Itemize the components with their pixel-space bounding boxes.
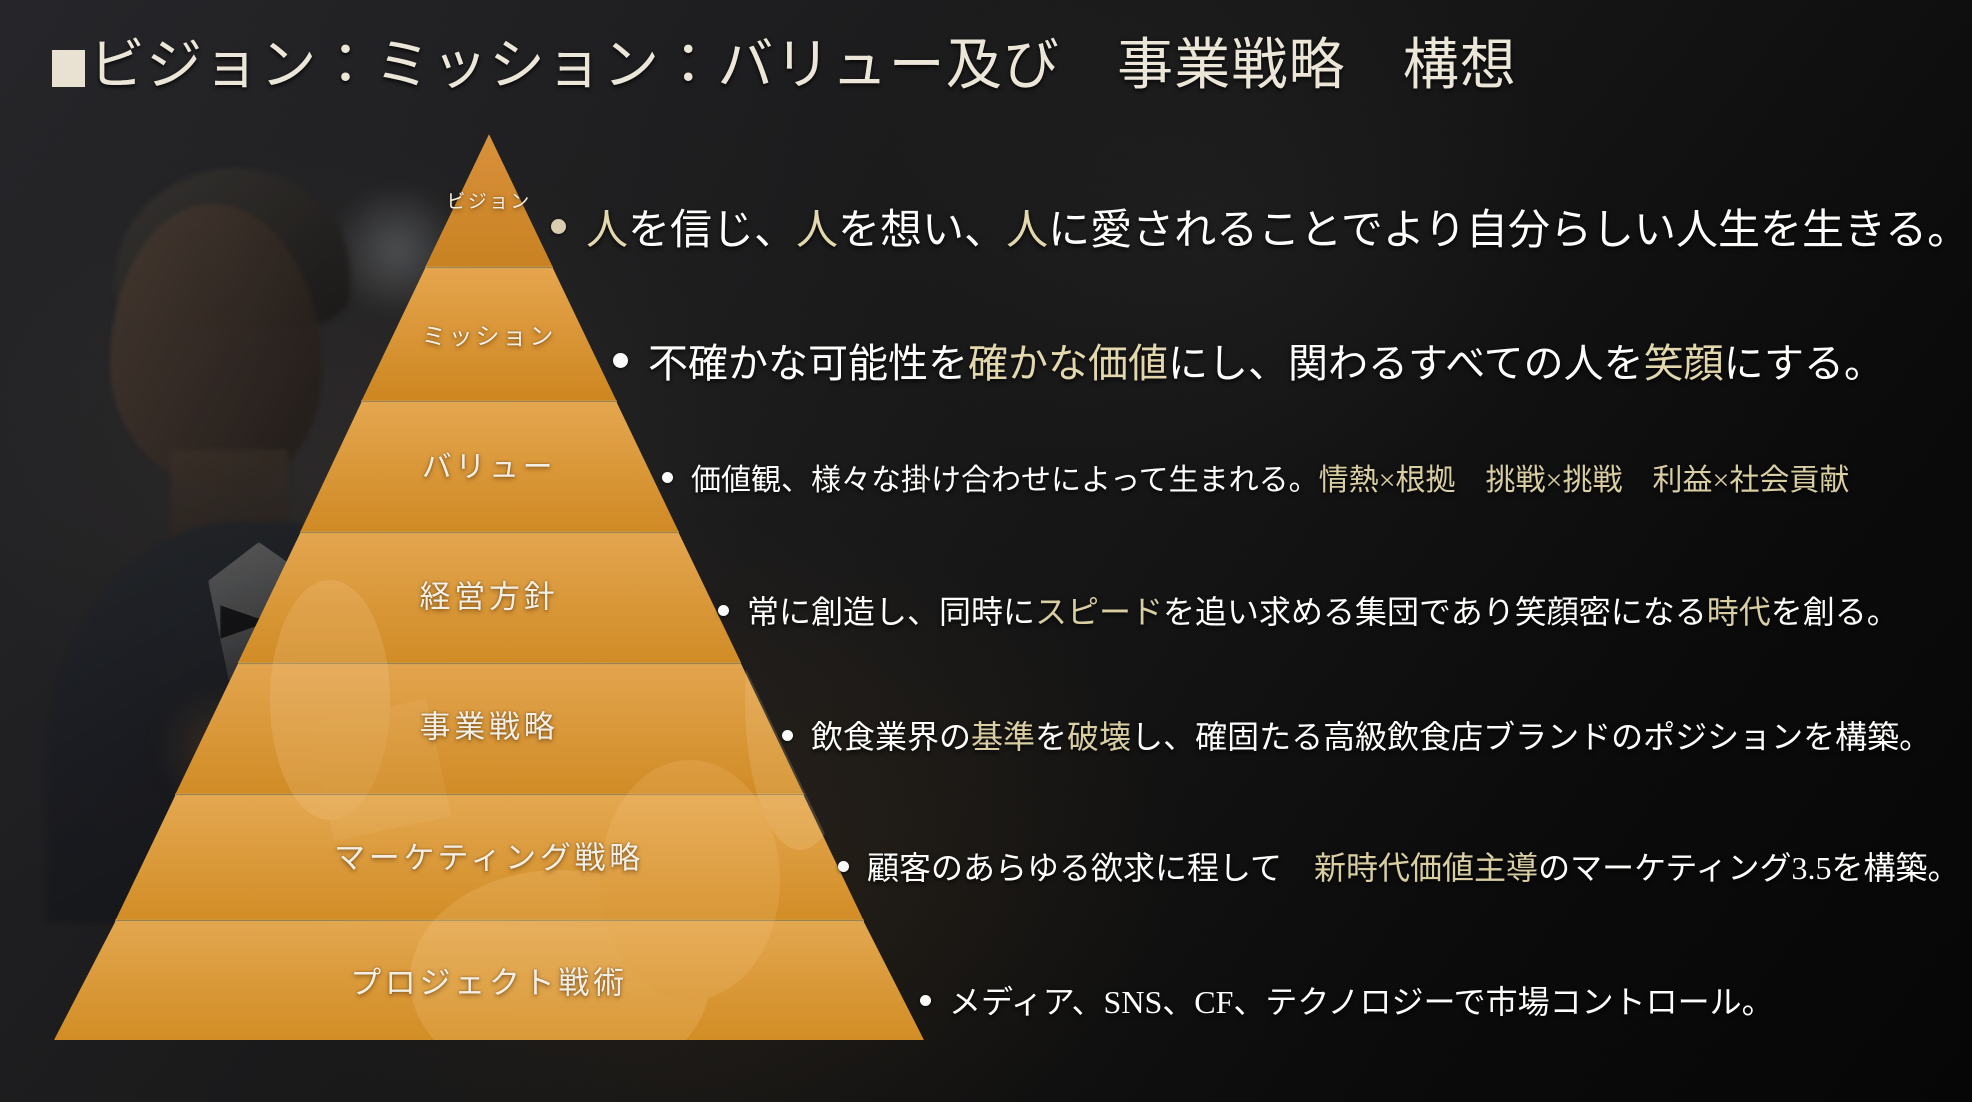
bullet-text-management-policy: 常に創造し、同時にスピードを追い求める集団であり笑顔密になる時代を創る。 <box>747 587 1899 633</box>
bullet-text-business-strategy: 飲食業界の基準を破壊し、確固たる高級飲食店ブランドのポジションを構築。 <box>811 712 1931 758</box>
bullet-text-project-tactics: メディア、SNS、CF、テクノロジーで市場コントロール。 <box>949 977 1774 1023</box>
plain-phrase: を信じ、 <box>628 208 796 254</box>
page-title-text: ビジョン：ミッション：バリュー及び 事業戦略 構想 <box>89 35 1517 97</box>
background-grain-texture <box>0 0 1972 1102</box>
highlighted-phrase: 破壊 <box>1067 719 1131 755</box>
bullet-row-mission: 不確かな可能性を確かな価値にし、関わるすべての人を笑顔にする。 <box>613 331 1884 389</box>
pyramid-tier-label-4: 経営方針 <box>420 572 559 617</box>
plain-phrase: にし、関わるすべての人を <box>1168 341 1644 386</box>
portrait-shirt <box>208 542 314 692</box>
bullet-dot-icon <box>782 730 793 741</box>
slide-canvas: ビジョン：ミッション：バリュー及び 事業戦略 構想 <box>0 0 1972 1102</box>
pyramid-tier-label-3: バリュー <box>422 442 556 486</box>
plain-phrase: し、確固たる高級飲食店ブランドのポジションを構築。 <box>1131 719 1931 755</box>
plain-phrase: を創る。 <box>1771 594 1899 630</box>
bullet-row-business-strategy: 飲食業界の基準を破壊し、確固たる高級飲食店ブランドのポジションを構築。 <box>782 712 1931 758</box>
title-square-bullet-icon <box>52 50 85 87</box>
highlighted-phrase: 人 <box>586 208 628 254</box>
portrait-hair <box>114 168 350 328</box>
bullet-row-marketing-strategy: 顧客のあらゆる欲求に程して 新時代価値主導のマーケティング3.5を構築。 <box>838 843 1960 889</box>
bullet-dot-icon <box>838 861 849 872</box>
pyramid-tier-label-5: 事業戦略 <box>420 702 559 747</box>
bokeh-light-3 <box>160 690 280 810</box>
highlighted-phrase: 笑顔 <box>1644 341 1724 386</box>
bullet-row-project-tactics: メディア、SNS、CF、テクノロジーで市場コントロール。 <box>920 977 1774 1023</box>
portrait-face <box>110 204 322 490</box>
plain-phrase: 飲食業界の <box>811 719 971 755</box>
plain-phrase: に愛されることでより自分らしい人生を生きる。 <box>1048 208 1969 254</box>
highlighted-phrase: 人 <box>796 208 838 254</box>
pyramid-tier-label-6: マーケティング戦略 <box>334 833 644 878</box>
bullet-dot-icon <box>551 219 566 234</box>
bullet-text-value: 価値観、様々な掛け合わせによって生まれる。情熱×根拠 挑戦×挑戦 利益×社会貢献 <box>691 455 1849 499</box>
plain-phrase: 不確かな可能性を <box>648 341 968 386</box>
pyramid-diagram <box>0 0 1972 1102</box>
pyramid-tier-label-7: プロジェクト戦術 <box>350 958 628 1003</box>
page-title: ビジョン：ミッション：バリュー及び 事業戦略 構想 <box>52 36 1517 98</box>
bullet-dot-icon <box>662 472 673 483</box>
plain-phrase: 常に創造し、同時に <box>747 594 1035 630</box>
background-portrait-photo <box>86 150 506 910</box>
bullet-dot-icon <box>920 995 931 1006</box>
bullet-row-vision: 人を信じ、人を想い、人に愛されることでより自分らしい人生を生きる。 <box>551 196 1969 257</box>
bullet-text-vision: 人を信じ、人を想い、人に愛されることでより自分らしい人生を生きる。 <box>586 196 1969 257</box>
pyramid-tier-label-1: ビジョン <box>446 187 531 214</box>
portrait-neck <box>170 450 288 570</box>
bullet-row-value: 価値観、様々な掛け合わせによって生まれる。情熱×根拠 挑戦×挑戦 利益×社会貢献 <box>662 455 1849 499</box>
bullet-text-mission: 不確かな可能性を確かな価値にし、関わるすべての人を笑顔にする。 <box>648 331 1884 389</box>
highlighted-phrase: スピード <box>1035 594 1163 630</box>
bullet-dot-icon <box>613 353 628 368</box>
highlighted-phrase: 新時代価値主導 <box>1314 850 1538 886</box>
highlighted-phrase: 情熱×根拠 挑戦×挑戦 利益×社会貢献 <box>1319 464 1850 497</box>
bullet-row-management-policy: 常に創造し、同時にスピードを追い求める集団であり笑顔密になる時代を創る。 <box>718 587 1899 633</box>
plain-phrase: を想い、 <box>838 208 1006 254</box>
highlighted-phrase: 確かな価値 <box>968 341 1168 386</box>
plain-phrase: のマーケティング3.5を構築。 <box>1538 850 1959 886</box>
pyramid-tier-label-2: ミッション <box>422 317 556 352</box>
plain-phrase: を <box>1035 719 1067 755</box>
highlighted-phrase: 基準 <box>971 719 1035 755</box>
plain-phrase: を追い求める集団であり笑顔密になる <box>1163 594 1707 630</box>
highlighted-phrase: 時代 <box>1707 594 1771 630</box>
bullet-text-marketing-strategy: 顧客のあらゆる欲求に程して 新時代価値主導のマーケティング3.5を構築。 <box>867 843 1960 889</box>
plain-phrase: 顧客のあらゆる欲求に程して <box>867 850 1314 886</box>
highlighted-phrase: 人 <box>1006 208 1048 254</box>
bullet-dot-icon <box>718 605 729 616</box>
plain-phrase: 価値観、様々な掛け合わせによって生まれる。 <box>691 464 1319 497</box>
plain-phrase: にする。 <box>1724 341 1884 386</box>
portrait-bowtie <box>220 602 312 642</box>
plain-phrase: メディア、SNS、CF、テクノロジーで市場コントロール。 <box>949 984 1774 1020</box>
